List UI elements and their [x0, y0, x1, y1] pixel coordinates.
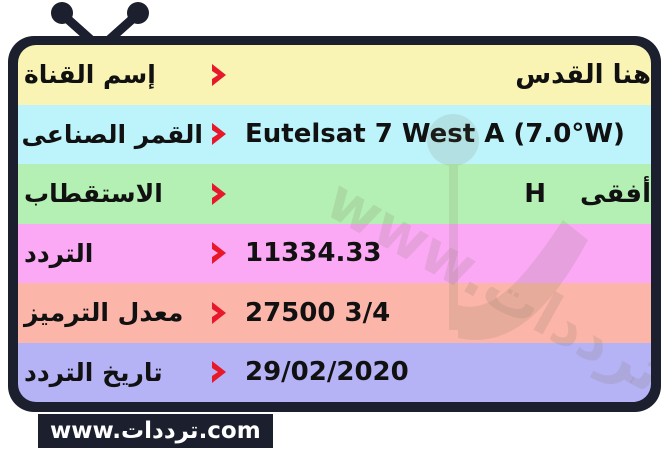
value-polarization: أفقىH: [239, 179, 651, 209]
row-symbol-rate: معدل الترميز 27500 3/4: [18, 283, 651, 343]
polarization-arabic: أفقى: [580, 179, 651, 209]
row-channel-name: إسم القناة هنا القدس: [18, 45, 651, 105]
label-channel-name: إسم القناة: [18, 60, 203, 89]
label-frequency: التردد: [18, 239, 203, 268]
chevron-right-icon: [203, 120, 237, 148]
polarization-code: H: [524, 179, 546, 209]
row-polarization: الاستقطاب أفقىH: [18, 164, 651, 224]
row-satellite: القمر الصناعى Eutelsat 7 West A (7.0°W): [18, 105, 651, 165]
frequency-info-card: إسم القناة هنا القدس القمر الصناعى Eutel…: [8, 36, 661, 412]
label-frequency-date: تاريخ التردد: [18, 358, 203, 387]
label-satellite: القمر الصناعى: [18, 120, 203, 149]
card-screen: إسم القناة هنا القدس القمر الصناعى Eutel…: [18, 45, 651, 402]
value-satellite: Eutelsat 7 West A (7.0°W): [239, 119, 651, 149]
chevron-right-icon: [203, 358, 237, 386]
label-polarization: الاستقطاب: [18, 179, 203, 208]
chevron-right-icon: [203, 180, 237, 208]
footer-watermark: www.ترددات.com: [38, 414, 273, 448]
row-frequency-date: تاريخ التردد 29/02/2020: [18, 343, 651, 403]
value-frequency-date: 29/02/2020: [239, 357, 651, 387]
chevron-right-icon: [203, 299, 237, 327]
screenshot-root: إسم القناة هنا القدس القمر الصناعى Eutel…: [0, 0, 669, 451]
row-frequency: التردد 11334.33: [18, 224, 651, 284]
footer-watermark-text: www.ترددات.com: [50, 418, 261, 444]
polarization-group: أفقىH: [524, 179, 651, 209]
label-symbol-rate: معدل الترميز: [18, 298, 203, 327]
chevron-right-icon: [203, 61, 237, 89]
value-symbol-rate: 27500 3/4: [239, 298, 651, 328]
value-frequency: 11334.33: [239, 238, 651, 268]
value-channel-name: هنا القدس: [239, 60, 651, 90]
chevron-right-icon: [203, 239, 237, 267]
